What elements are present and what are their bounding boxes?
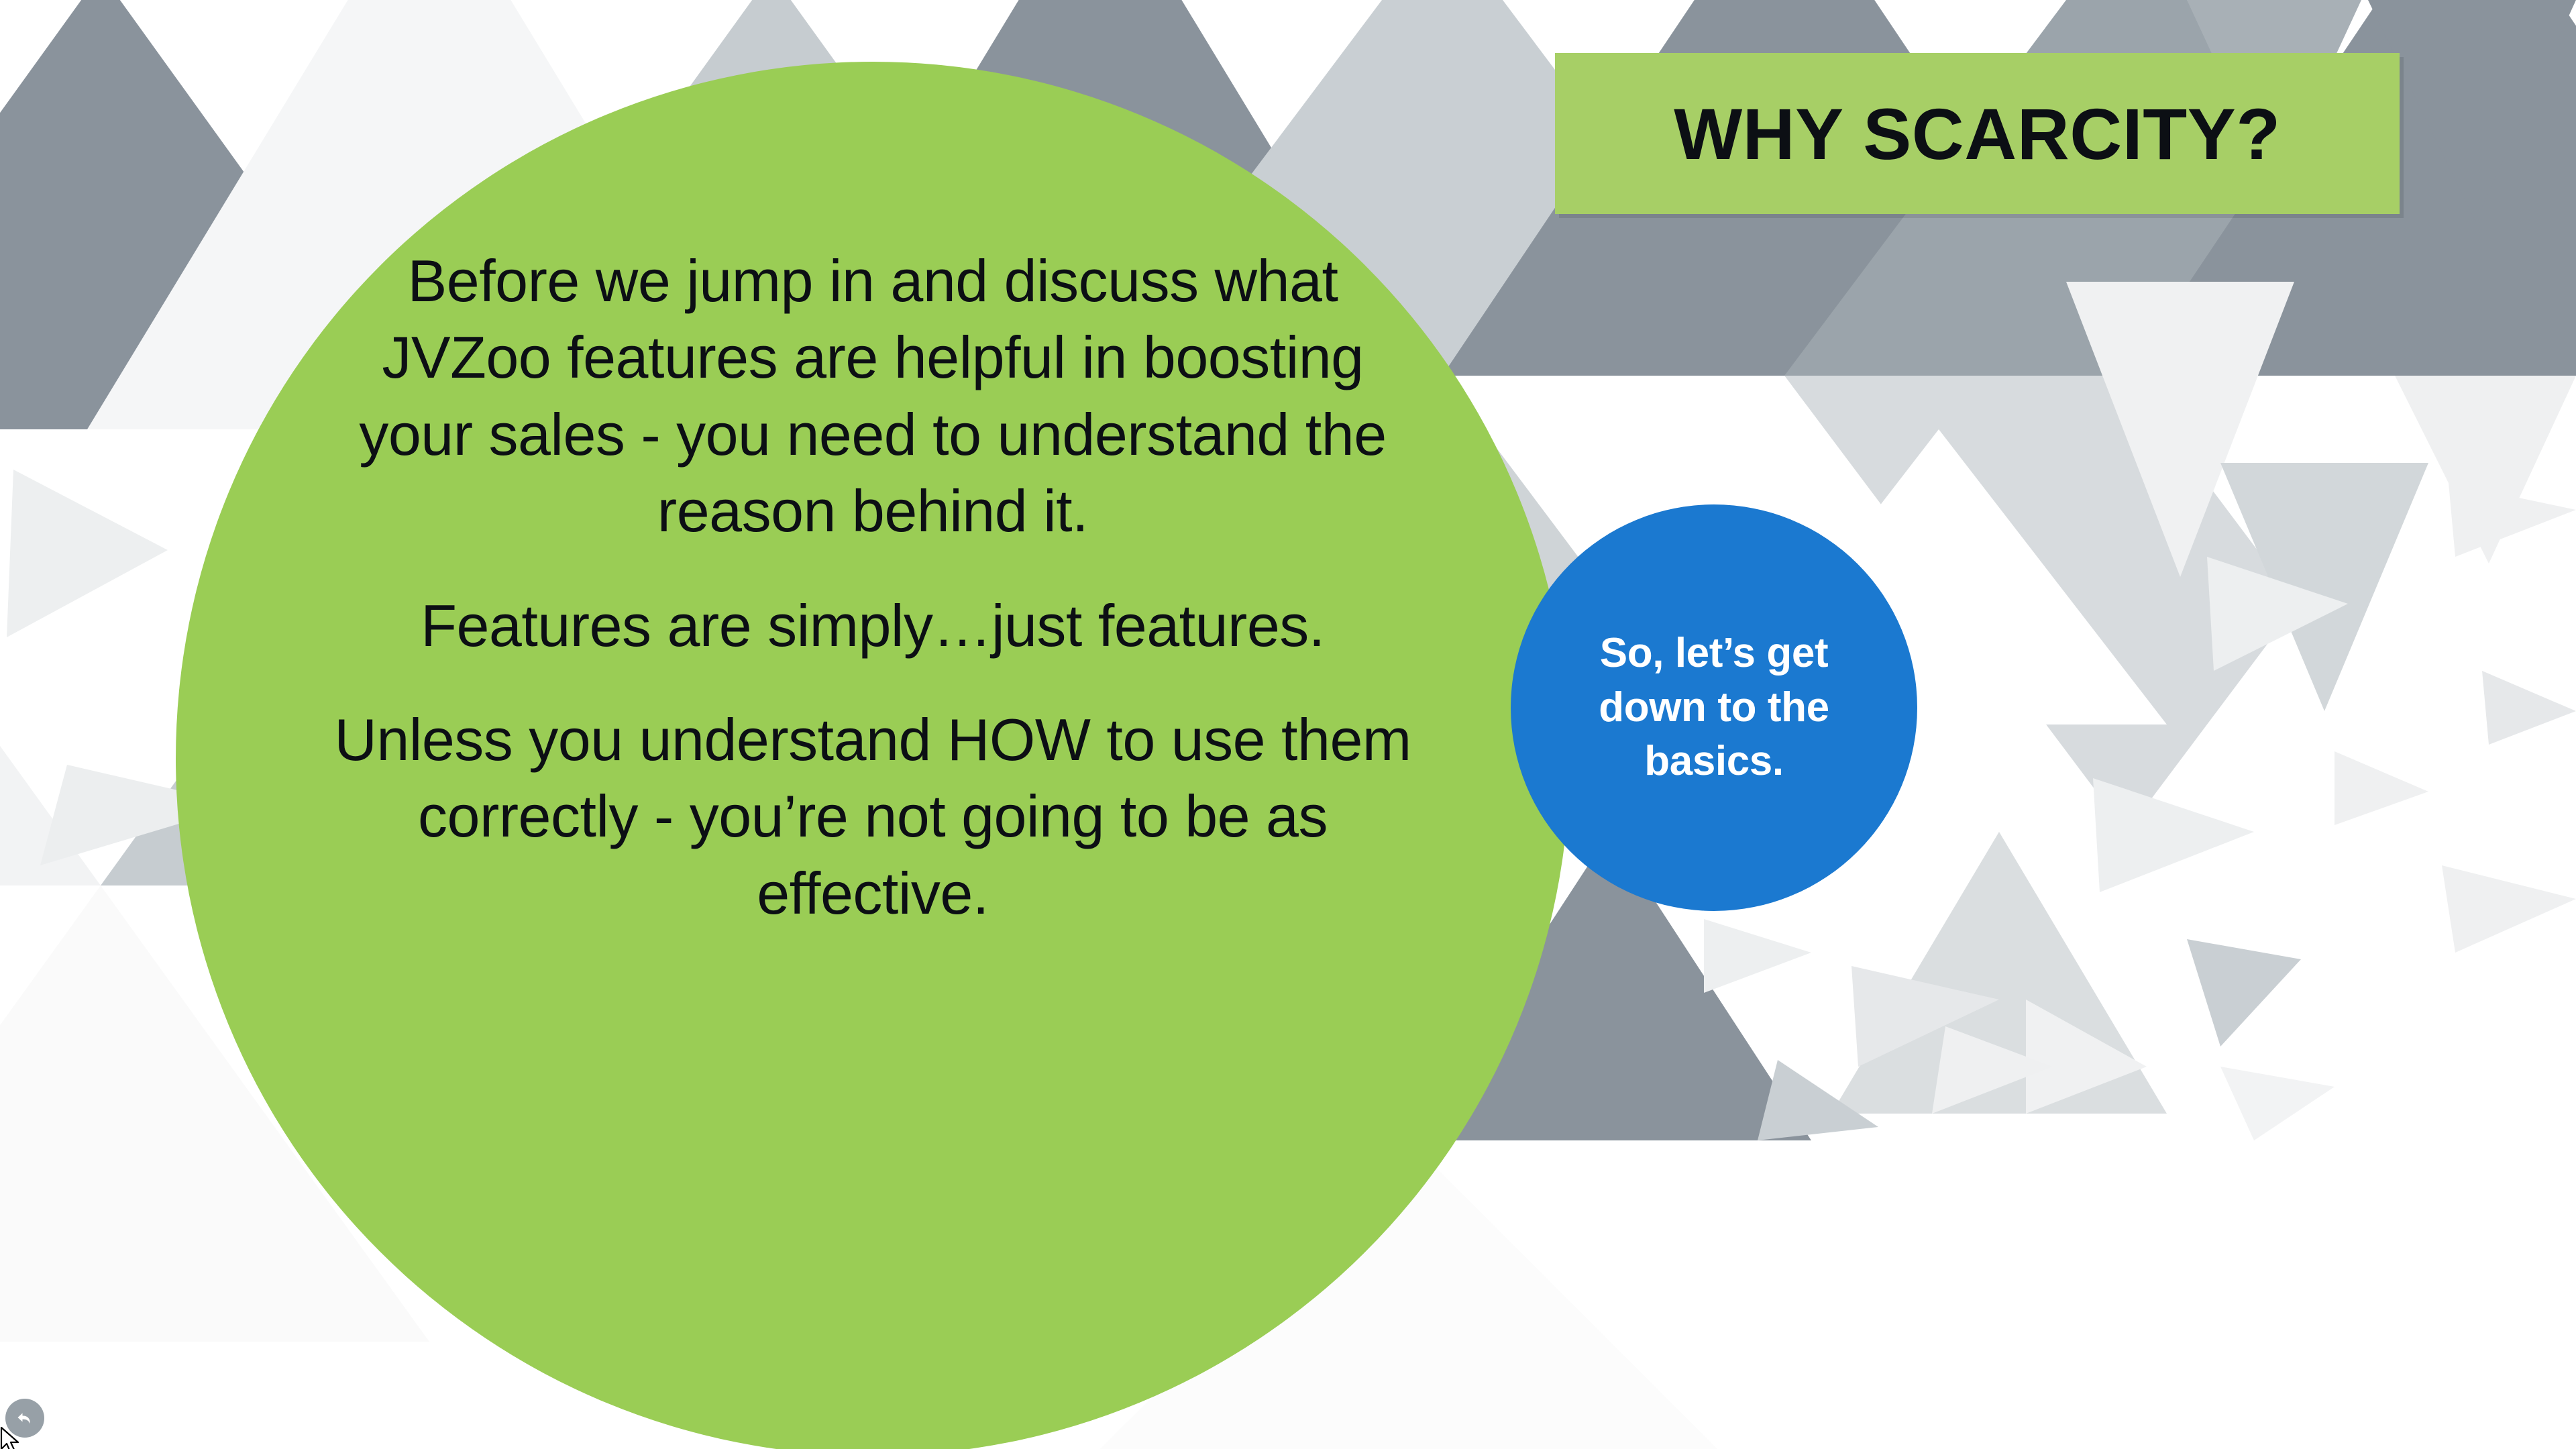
green-paragraph-2: Features are simply…just features. — [323, 588, 1423, 664]
green-circle-text: Before we jump in and discuss what JVZoo… — [323, 243, 1423, 932]
page-title: WHY SCARCITY? — [1674, 92, 2281, 176]
green-content-circle: Before we jump in and discuss what JVZoo… — [176, 62, 1570, 1449]
undo-arrow-icon — [13, 1407, 36, 1430]
title-banner: WHY SCARCITY? — [1555, 53, 2400, 214]
blue-callout-circle: So, let’s get down to the basics. — [1511, 504, 1917, 911]
presentation-slide: Before we jump in and discuss what JVZoo… — [0, 0, 2576, 1449]
green-paragraph-1: Before we jump in and discuss what JVZoo… — [323, 243, 1423, 550]
green-paragraph-3: Unless you understand HOW to use them co… — [323, 702, 1423, 932]
back-button[interactable] — [5, 1399, 44, 1438]
blue-circle-text: So, let’s get down to the basics. — [1570, 627, 1858, 789]
